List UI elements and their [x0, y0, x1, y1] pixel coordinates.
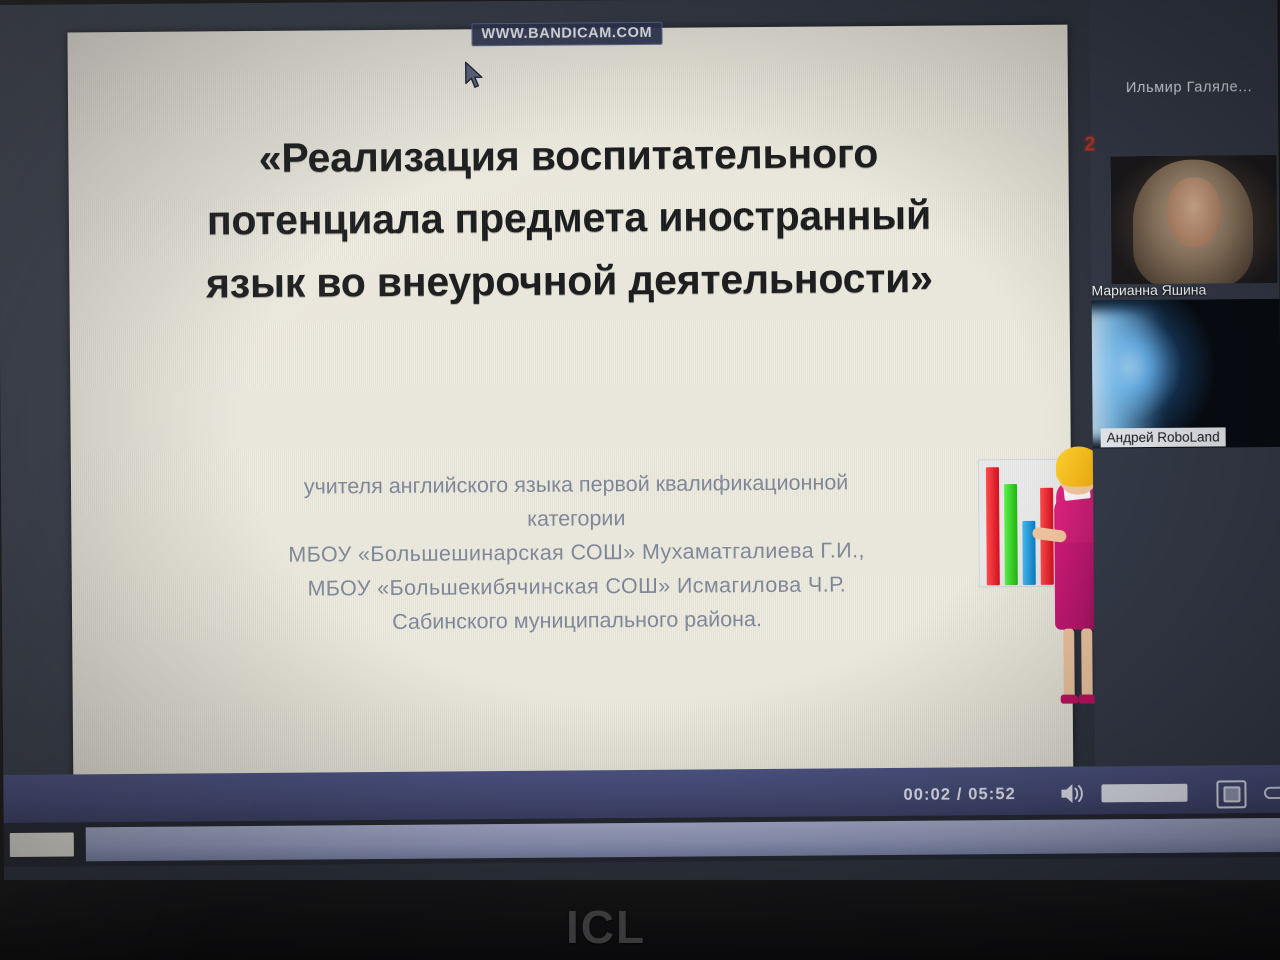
- participant-video-tile-2[interactable]: [1092, 299, 1280, 448]
- presentation-slide[interactable]: «Реализация воспитательного потенциала п…: [67, 25, 1073, 795]
- slide-subtitle: учителя английского языка первой квалифи…: [181, 465, 972, 641]
- slide-subtitle-line-5: Сабинского муниципального района.: [182, 601, 972, 641]
- participant-1-face: [1167, 177, 1222, 247]
- participant-video-tile-1[interactable]: [1110, 155, 1277, 284]
- taskbar-chip[interactable]: [10, 832, 74, 857]
- notification-badge[interactable]: 2: [1084, 133, 1095, 156]
- clipart-bar-2: [1004, 484, 1018, 585]
- participant-name-1: Марианна Яшина: [1091, 282, 1206, 299]
- slide-title-line-3: язык во внеурочной деятельности»: [206, 254, 933, 306]
- slide-title-line-1: «Реализация воспитательного: [259, 130, 879, 181]
- monitor-screen: «Реализация воспитательного потенциала п…: [0, 0, 1280, 890]
- bandicam-watermark: WWW.BANDICAM.COM: [471, 22, 662, 46]
- clipart-bar-1: [986, 467, 1000, 585]
- clipart-woman-shoe-left: [1061, 695, 1079, 704]
- monitor-brand-logo: ICL: [566, 900, 646, 954]
- participant-2-light-glow: [1092, 310, 1163, 441]
- volume-slider[interactable]: [1101, 784, 1187, 803]
- monitor-photo: «Реализация воспитательного потенциала п…: [0, 0, 1280, 960]
- playback-time-display: 00:02 / 05:52: [903, 785, 1016, 805]
- slide-subtitle-line-3: МБОУ «Большешинарская СОШ» Мухаматгалиев…: [181, 533, 971, 573]
- picture-in-picture-icon[interactable]: [1216, 780, 1246, 808]
- clipart-woman-leg-right: [1081, 628, 1093, 698]
- slide-title: «Реализация воспитательного потенциала п…: [108, 121, 1029, 315]
- participant-name-2: Андрей RoboLand: [1101, 427, 1226, 447]
- settings-icon[interactable]: ⊂: [1261, 779, 1280, 805]
- arrow-cursor: [464, 61, 486, 91]
- participant-name-0: Ильмир Галяле...: [1126, 79, 1252, 96]
- clipart-woman-leg-left: [1063, 629, 1075, 699]
- speaker-icon[interactable]: [1058, 780, 1088, 806]
- picture-in-picture-inner: [1223, 786, 1240, 802]
- slide-title-line-2: потенциала предмета иностранный: [207, 192, 931, 244]
